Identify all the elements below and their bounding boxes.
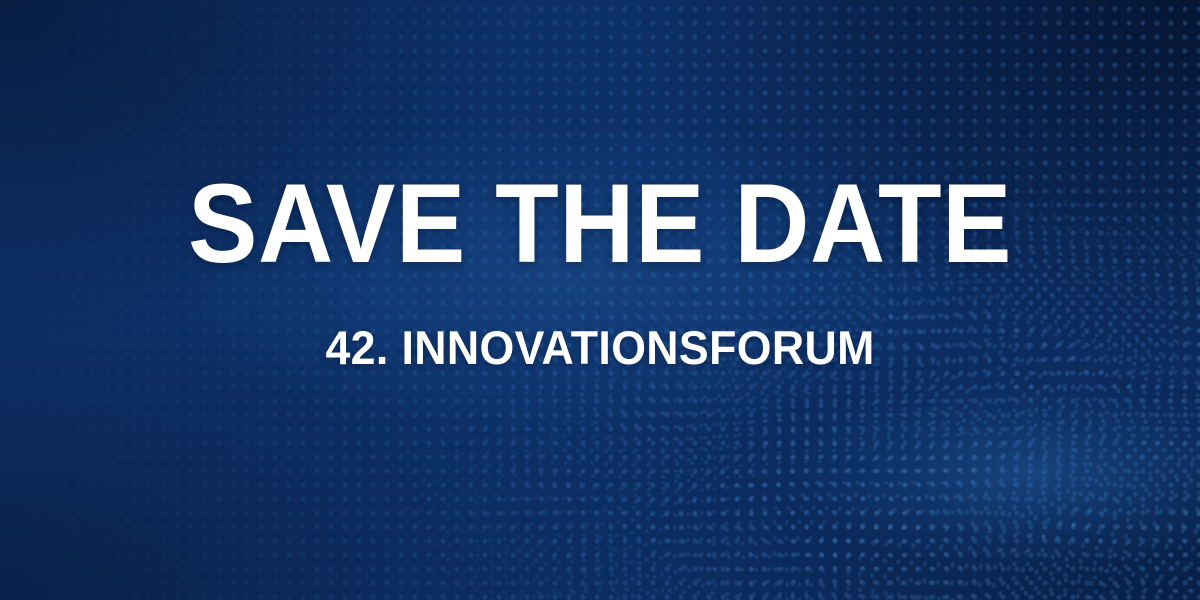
page-title: SAVE THE DATE xyxy=(188,0,1012,280)
event-subtitle: 42. INNOVATIONSFORUM xyxy=(325,280,874,371)
save-the-date-banner: SAVE THE DATE 42. INNOVATIONSFORUM xyxy=(0,0,1200,600)
banner-content: SAVE THE DATE 42. INNOVATIONSFORUM xyxy=(0,0,1200,600)
